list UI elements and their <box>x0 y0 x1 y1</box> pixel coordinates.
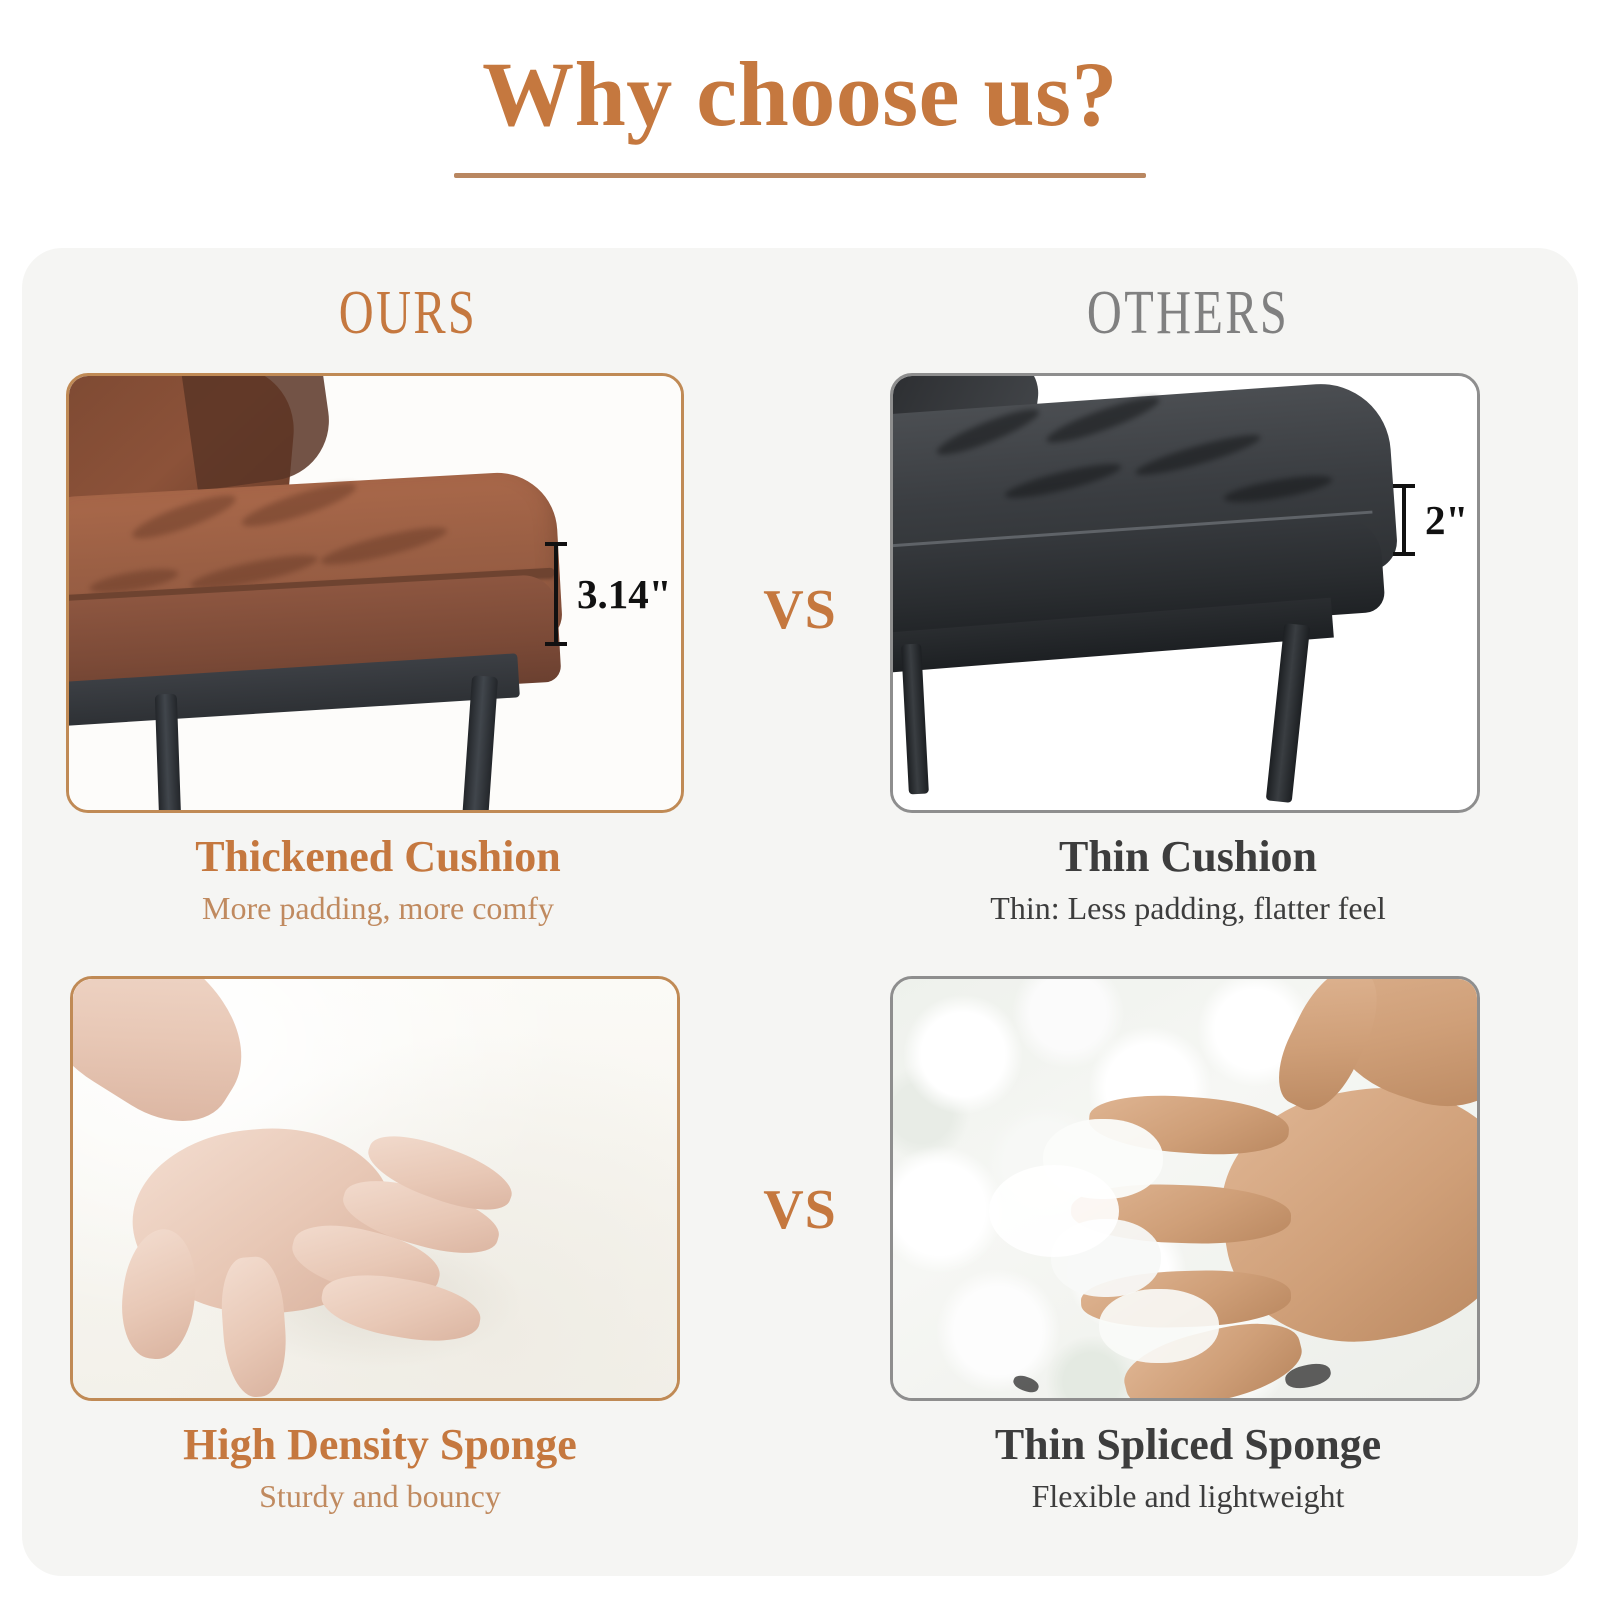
comparison-panel: OURS OTHERS 3 <box>22 248 1578 1576</box>
comparison-cell-others-sponge: Thin Spliced Sponge Flexible and lightwe… <box>890 976 1486 1515</box>
title-underline-rule <box>454 173 1146 178</box>
comparison-cell-ours-cushion: 3.14" Thickened Cushion More padding, mo… <box>66 373 690 927</box>
caption-sub-ours-cushion: More padding, more comfy <box>66 889 690 927</box>
caption-sub-others-sponge: Flexible and lightweight <box>890 1477 1486 1515</box>
dimension-label-others: 2" <box>1425 496 1468 544</box>
caption-sub-ours-sponge: Sturdy and bouncy <box>70 1477 690 1515</box>
header: Why choose us? <box>0 0 1600 178</box>
dimension-label-ours: 3.14" <box>577 570 672 618</box>
caption-sub-others-cushion: Thin: Less padding, flatter feel <box>890 889 1486 927</box>
comparison-cell-others-cushion: 2" Thin Cushion Thin: Less padding, flat… <box>890 373 1486 927</box>
dimension-callout-ours: 3.14" <box>545 542 672 646</box>
vs-separator-row-1: VS <box>720 578 880 642</box>
dimension-bar-icon <box>545 542 567 646</box>
caption-title-ours-sponge: High Density Sponge <box>70 1419 690 1471</box>
hand-pressing-fiber-fill-photo <box>890 976 1480 1401</box>
hand-pressing-dense-foam-photo <box>70 976 680 1401</box>
column-header-others: OTHERS <box>1016 278 1359 349</box>
comparison-cell-ours-sponge: High Density Sponge Sturdy and bouncy <box>70 976 690 1515</box>
column-header-ours: OURS <box>236 278 579 349</box>
caption-title-others-cushion: Thin Cushion <box>890 831 1486 883</box>
caption-title-others-sponge: Thin Spliced Sponge <box>890 1419 1486 1471</box>
vs-separator-row-2: VS <box>720 1178 880 1242</box>
black-leather-chair-cushion-photo: 2" <box>890 373 1480 813</box>
brown-leather-chair-cushion-photo: 3.14" <box>66 373 684 813</box>
dimension-callout-others: 2" <box>1393 484 1468 556</box>
page-title: Why choose us? <box>0 46 1600 143</box>
caption-title-ours-cushion: Thickened Cushion <box>66 831 690 883</box>
dimension-bar-icon <box>1393 484 1415 556</box>
